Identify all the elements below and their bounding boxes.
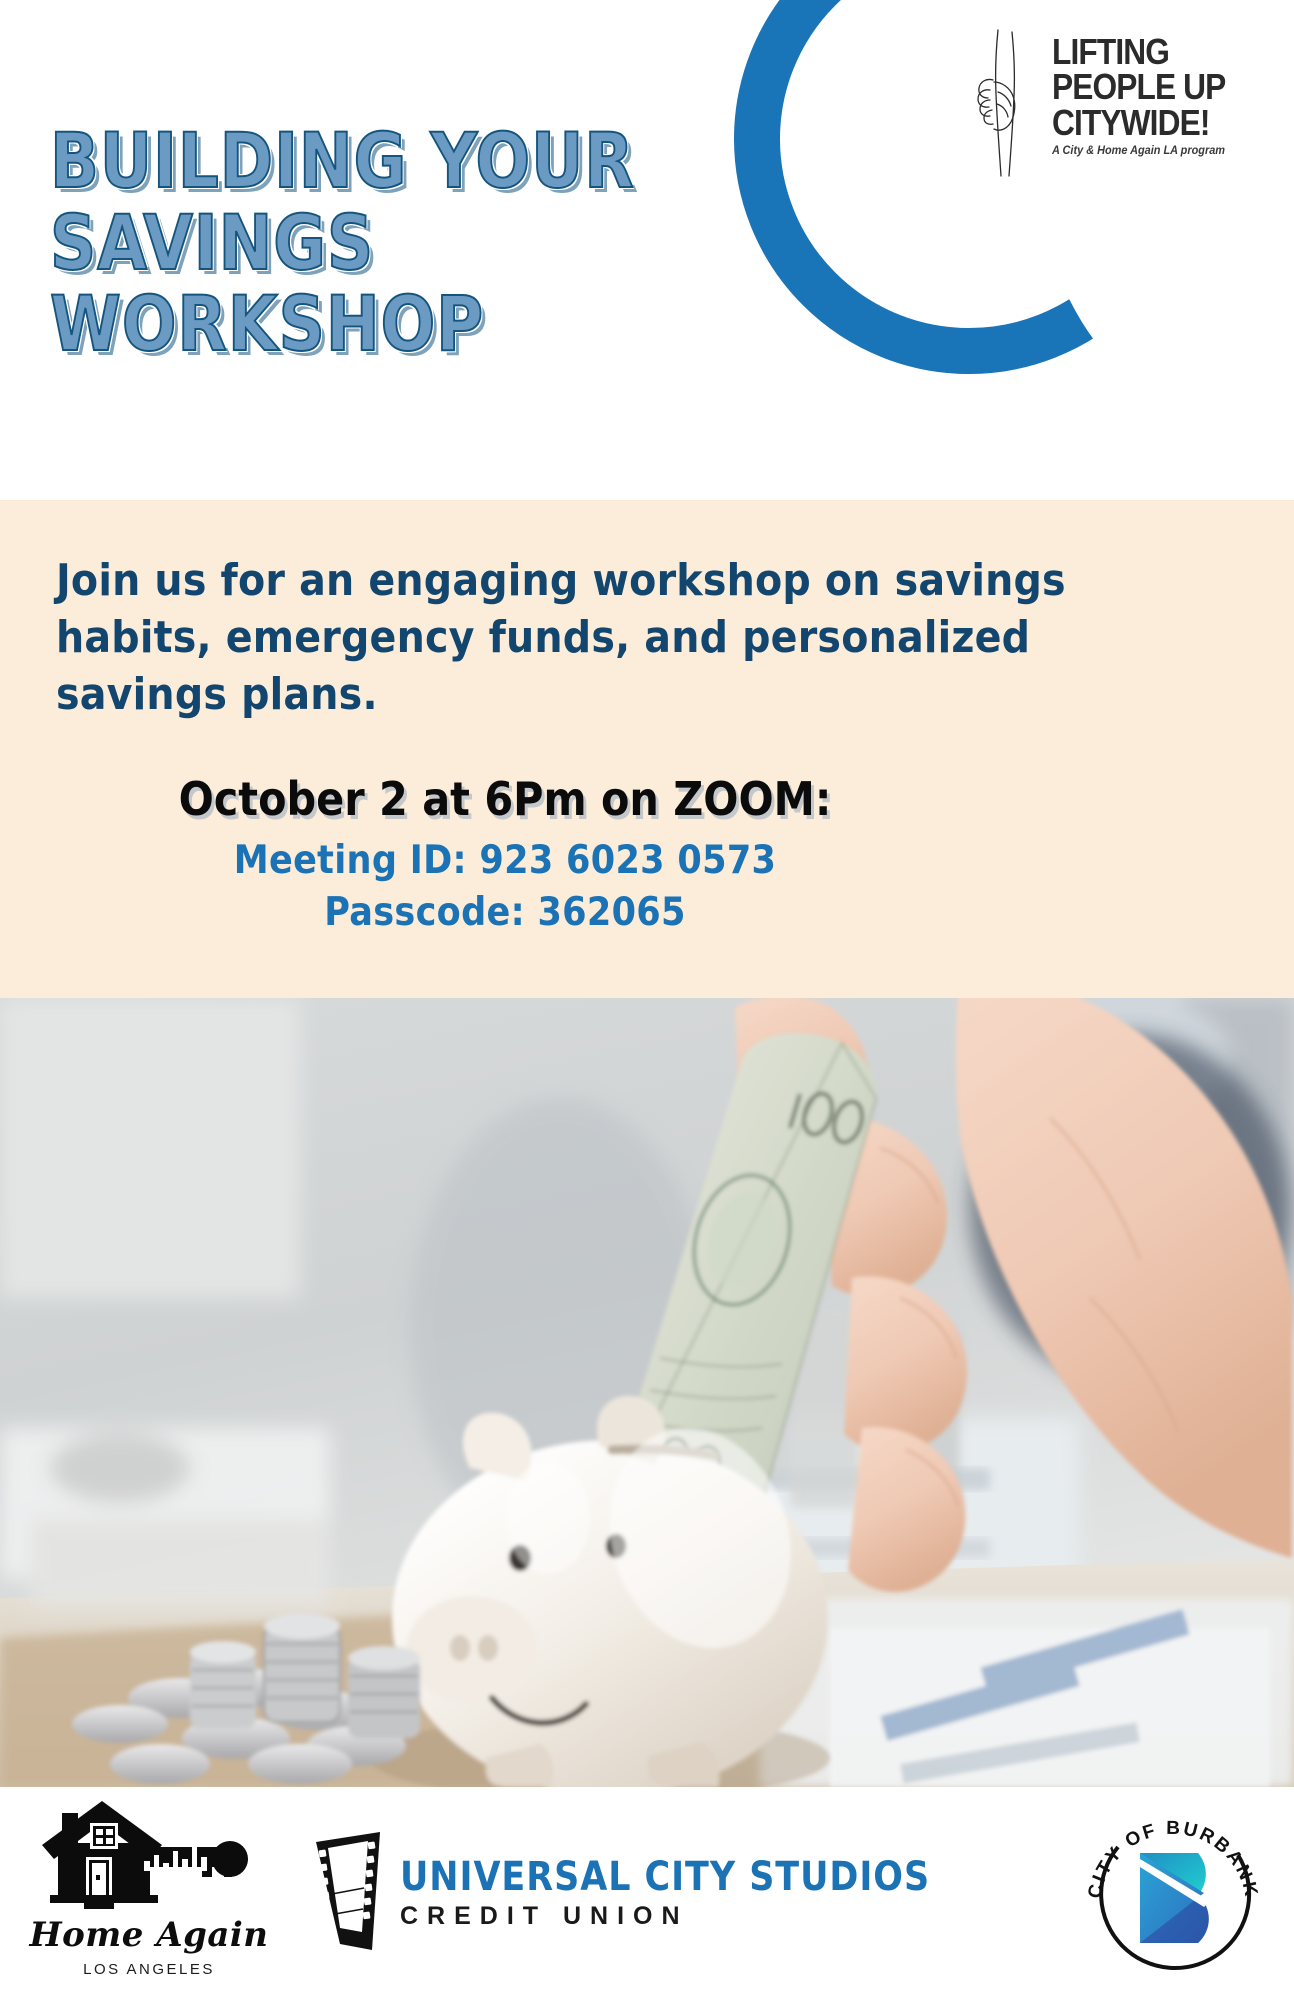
lead-paragraph: Join us for an engaging workshop on savi… xyxy=(56,552,1116,724)
universal-city-studios-credit-union-logo: UNIVERSAL CITY STUDIOS CREDIT UNION xyxy=(310,1817,740,1967)
home-again-name: Home Again xyxy=(24,1915,274,1955)
zoom-meeting-id: Meeting ID: 923 6023 0573 xyxy=(0,838,1010,883)
piggy-bank-photo xyxy=(0,998,1294,1787)
poster-header: LIFTING PEOPLE UP CITYWIDE! A City & Hom… xyxy=(0,0,1294,500)
title-line-1: Building Your xyxy=(50,122,635,200)
event-datetime: October 2 at 6Pm on ZOOM: xyxy=(0,772,1010,826)
zoom-passcode: Passcode: 362065 xyxy=(0,890,1010,935)
home-again-city: LOS ANGELES xyxy=(24,1961,274,1978)
city-of-burbank-logo: CITY OF BURBANK xyxy=(1078,1803,1268,1988)
holding-hands-icon xyxy=(968,28,1044,178)
partner-logos-footer: Home Again LOS ANGELES xyxy=(0,1787,1294,2000)
flyer-poster: LIFTING PEOPLE UP CITYWIDE! A City & Hom… xyxy=(0,0,1294,2000)
poster-title: Building Your Savings Workshop xyxy=(50,122,672,367)
burbank-b-icon: CITY OF BURBANK xyxy=(1078,1803,1268,1988)
title-line-3: Workshop xyxy=(50,285,635,363)
lifting-people-up-logo: LIFTING PEOPLE UP CITYWIDE! A City & Hom… xyxy=(968,28,1268,188)
program-logo-line-3: CITYWIDE! xyxy=(1052,105,1210,140)
program-logo-line-2: PEOPLE UP xyxy=(1052,69,1225,104)
film-strip-icon xyxy=(310,1832,390,1952)
ucsu-subtitle: CREDIT UNION xyxy=(400,1902,946,1931)
house-key-icon xyxy=(34,1799,264,1919)
program-logo-line-1: LIFTING xyxy=(1052,34,1169,69)
ucsu-name: UNIVERSAL CITY STUDIOS xyxy=(400,1854,930,1900)
home-again-logo: Home Again LOS ANGELES xyxy=(24,1799,274,1994)
event-info-band: Join us for an engaging workshop on savi… xyxy=(0,500,1294,998)
title-line-2: Savings xyxy=(50,204,635,282)
program-logo-tagline: A City & Home Again LA program xyxy=(1052,145,1225,157)
